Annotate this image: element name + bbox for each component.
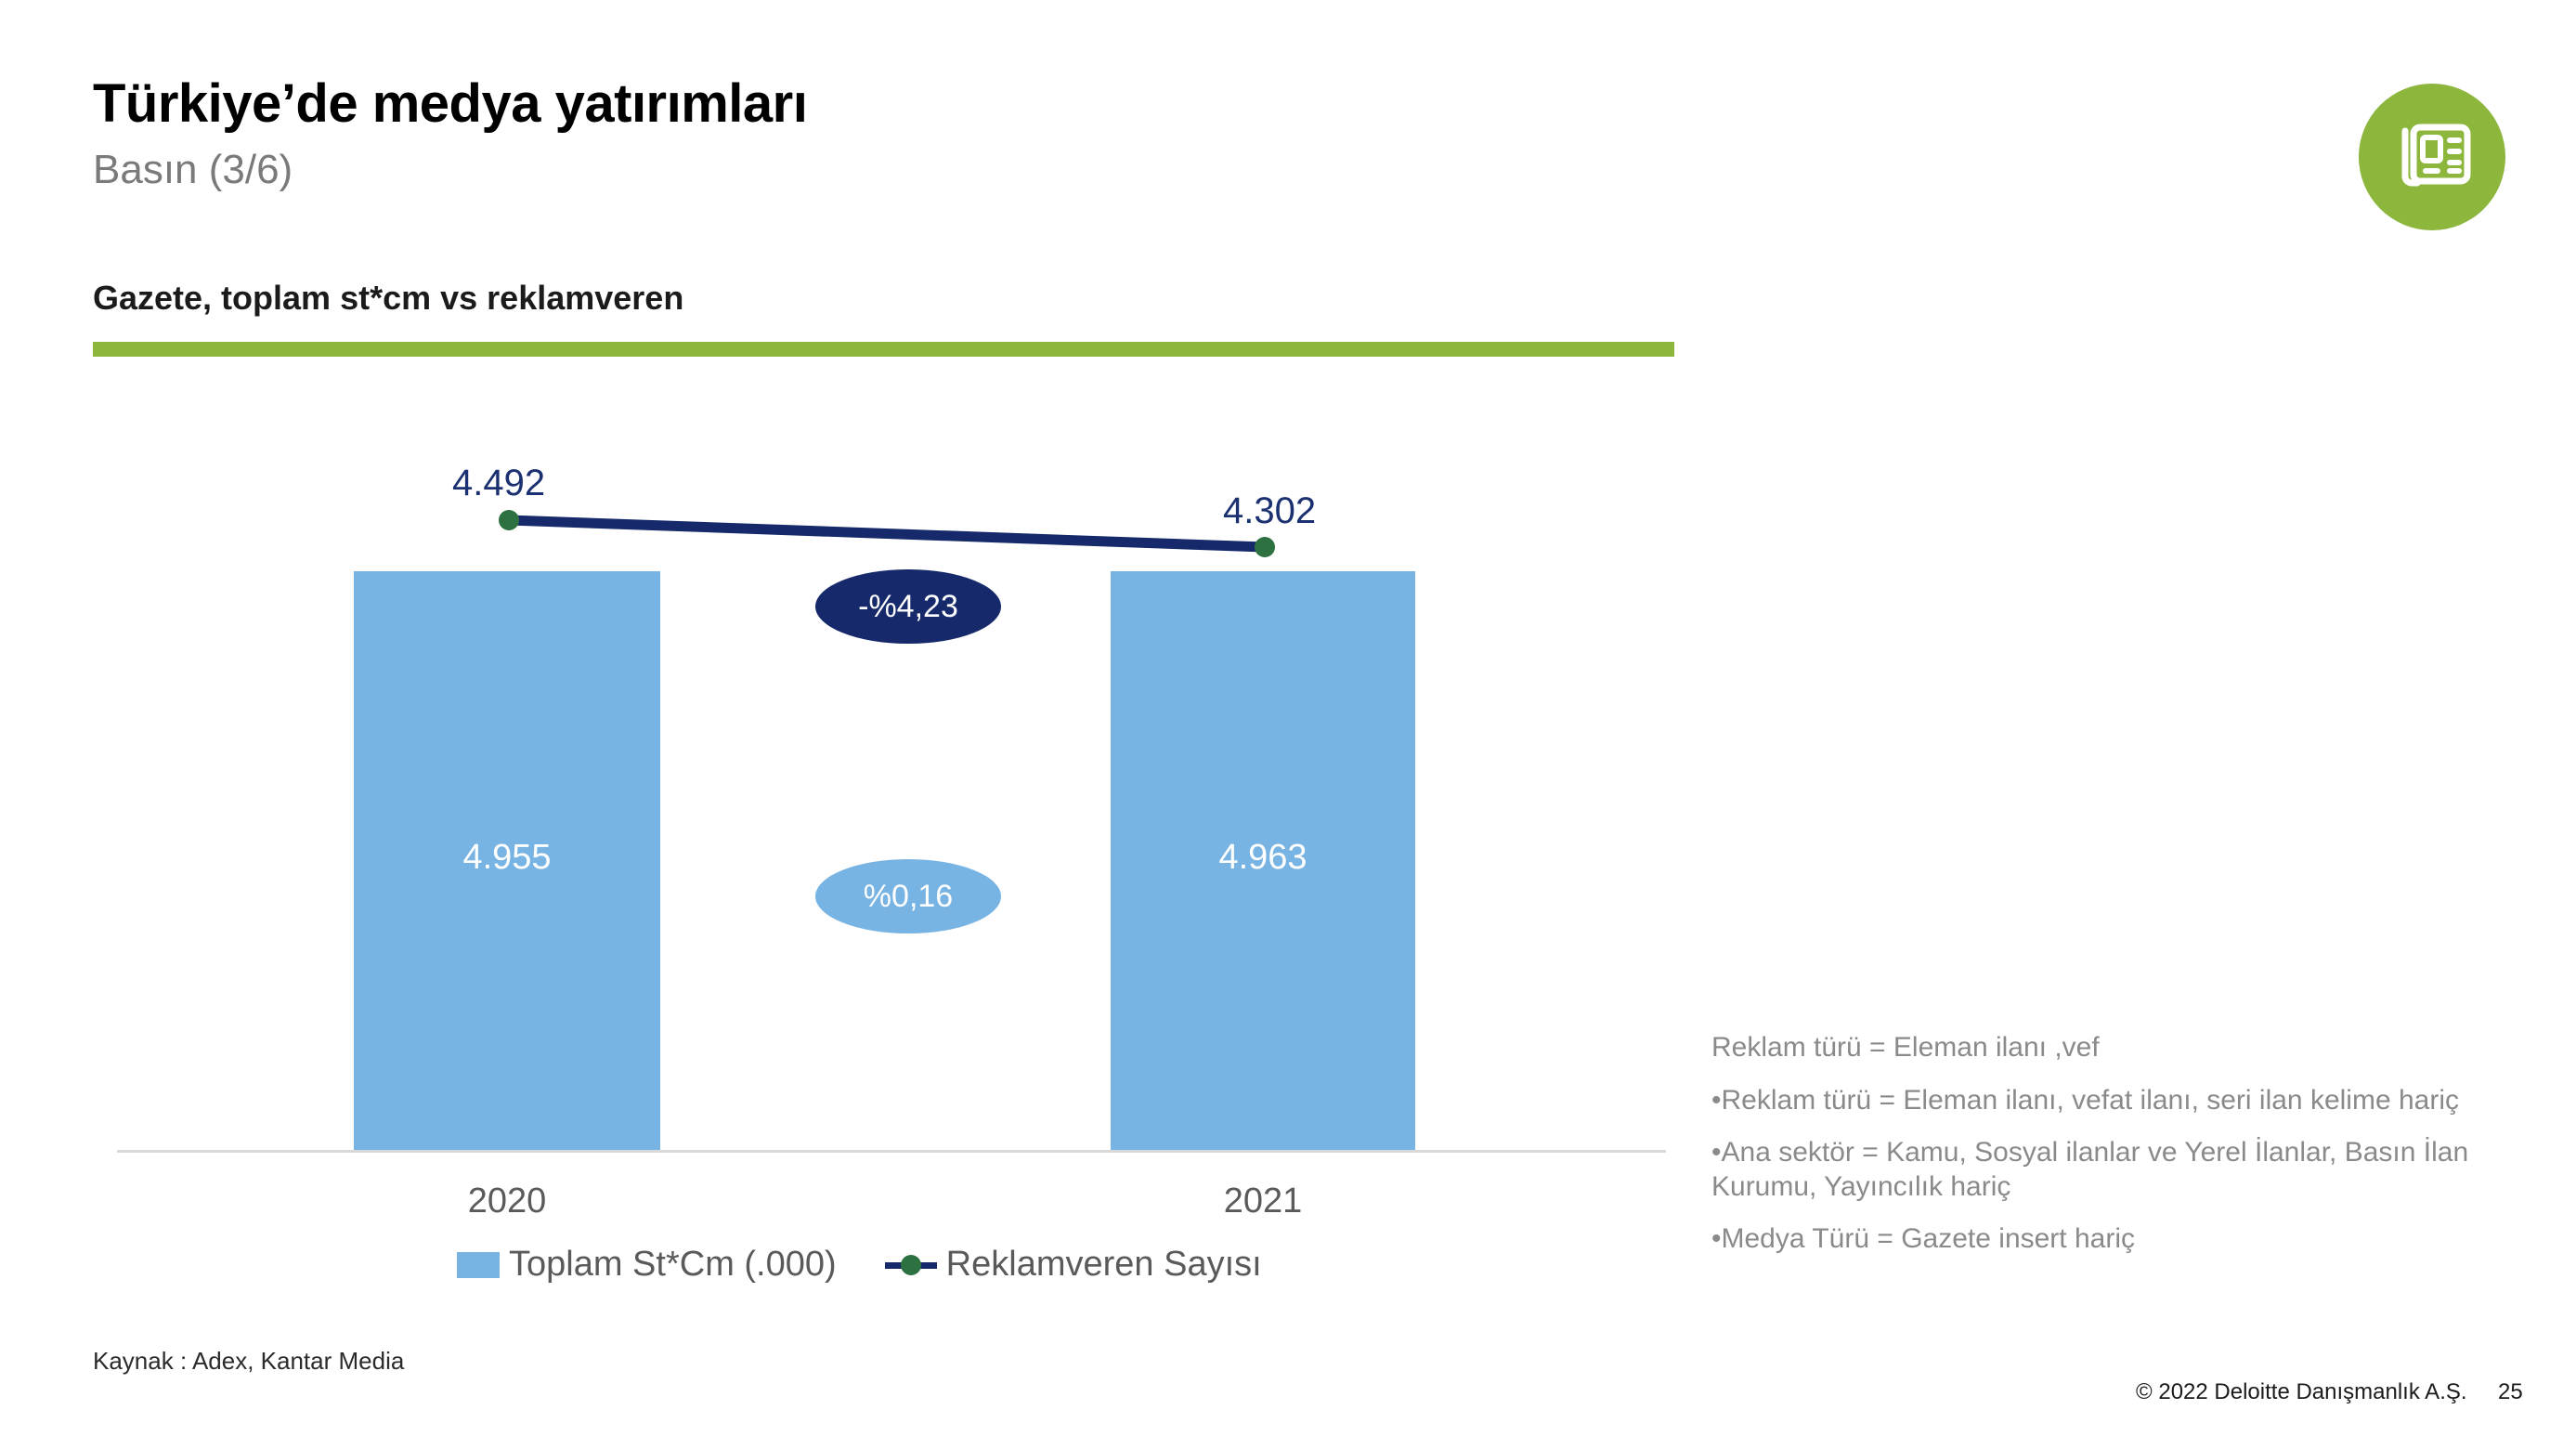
- note-line: •Ana sektör = Kamu, Sosyal ilanlar ve Ye…: [1711, 1136, 2510, 1204]
- source-note: Kaynak : Adex, Kantar Media: [93, 1347, 404, 1376]
- legend-label-line-series: Reklamveren Sayısı: [946, 1245, 1262, 1285]
- legend-label-bar-series: Toplam St*Cm (.000): [509, 1245, 837, 1285]
- copyright-note: © 2022 Deloitte Danışmanlık A.Ş.: [2136, 1379, 2467, 1405]
- line-marker-2020: [499, 510, 519, 530]
- line-change-callout: -%4,23: [815, 569, 1001, 644]
- category-label-2020: 2020: [354, 1181, 660, 1221]
- line-value-2020: 4.492: [452, 463, 545, 504]
- category-label-2021: 2021: [1111, 1181, 1415, 1221]
- line-value-2021: 4.302: [1223, 490, 1316, 532]
- category-axis-line: [117, 1150, 1666, 1153]
- note-line: •Reklam türü = Eleman ilanı, vefat ilanı…: [1711, 1084, 2510, 1118]
- legend-swatch-bar-icon: [457, 1252, 500, 1278]
- page-number: 25: [2498, 1379, 2523, 1405]
- legend-swatch-line-icon: [885, 1254, 937, 1276]
- legend-item-bar-series[interactable]: Toplam St*Cm (.000): [457, 1245, 837, 1285]
- note-line: •Medya Türü = Gazete insert hariç: [1711, 1222, 2510, 1257]
- note-line: Reklam türü = Eleman ilanı ,vef: [1711, 1031, 2510, 1065]
- line-marker-2021: [1255, 537, 1275, 557]
- chart-legend: Toplam St*Cm (.000) Reklamveren Sayısı: [457, 1245, 1262, 1285]
- bar-change-callout: %0,16: [815, 859, 1001, 933]
- legend-item-line-series[interactable]: Reklamveren Sayısı: [885, 1245, 1262, 1285]
- notes-block: Reklam türü = Eleman ilanı ,vef •Reklam …: [1711, 1031, 2510, 1275]
